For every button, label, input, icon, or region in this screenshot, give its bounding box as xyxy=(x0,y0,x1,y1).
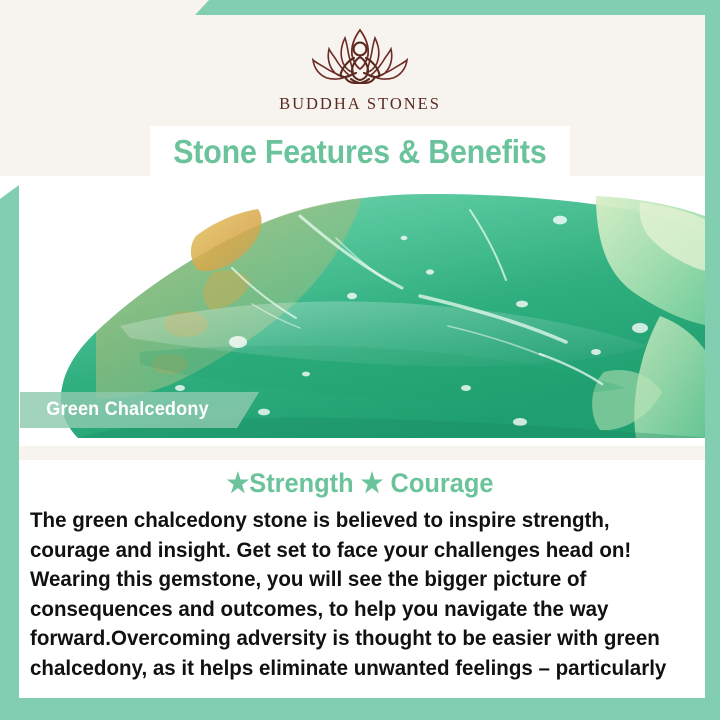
stone-feature-card: BUDDHA STONES Stone Features & Benefits xyxy=(0,0,720,720)
stone-photo: Green Chalcedony xyxy=(0,176,720,446)
photo-caption-bar: Green Chalcedony xyxy=(20,392,259,428)
lotus-meditation-icon xyxy=(285,22,435,90)
title-banner: Stone Features & Benefits xyxy=(150,126,570,178)
brand-logo: BUDDHA STONES xyxy=(0,22,720,114)
benefit-keywords: ★Strength ★ Courage xyxy=(22,468,699,499)
photo-caption-label: Green Chalcedony xyxy=(46,399,209,421)
frame-bottom-band xyxy=(0,698,720,720)
frame-right-band xyxy=(705,0,720,720)
frame-left-band xyxy=(0,185,19,720)
description-section: ★Strength ★ Courage The green chalcedony… xyxy=(0,446,720,720)
frame-top-band xyxy=(195,0,720,15)
frame-bottom-inset xyxy=(19,684,701,698)
page-title: Stone Features & Benefits xyxy=(173,133,546,171)
brand-name: BUDDHA STONES xyxy=(279,94,441,114)
cream-divider-strip xyxy=(0,446,720,460)
